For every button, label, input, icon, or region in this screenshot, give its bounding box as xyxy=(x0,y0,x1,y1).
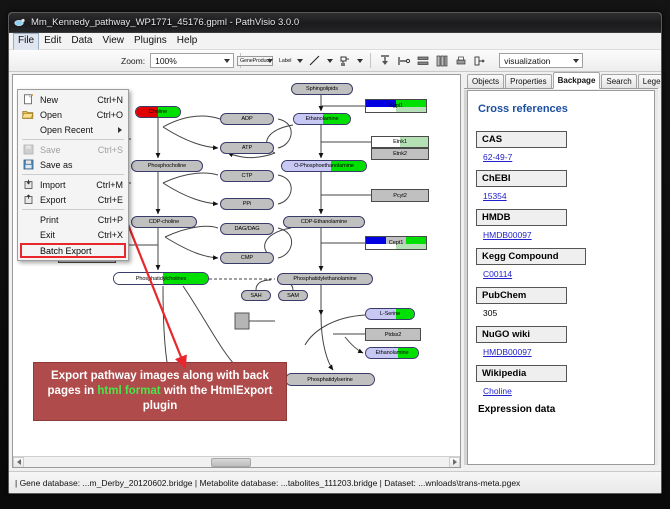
menu-separator xyxy=(22,209,124,210)
node-label: ATP xyxy=(242,145,252,151)
label-icon[interactable]: Label xyxy=(277,53,293,69)
xref-value-link[interactable]: HMDB00097 xyxy=(483,347,654,357)
menu-item-label: Export xyxy=(36,195,98,205)
callout-highlight: html format xyxy=(97,385,160,397)
align-top-icon[interactable] xyxy=(377,53,393,69)
node-choline-top[interactable]: Choline xyxy=(135,106,181,118)
menu-item-label: Open Recent xyxy=(36,125,118,135)
menu-separator xyxy=(22,174,124,175)
node-fill-topright xyxy=(406,237,426,244)
menu-item-label: Print xyxy=(36,215,98,225)
status-bar: | Gene database: ...m_Derby_20120602.bri… xyxy=(9,471,661,493)
node-label: Ethanolamine xyxy=(305,116,338,122)
node-l-serine[interactable]: L-Serine xyxy=(365,308,415,320)
layout-icon[interactable] xyxy=(472,53,488,69)
callout-text-after: with the HtmlExport plugin xyxy=(143,385,273,412)
node-sgpl1[interactable]: Sgpl1 xyxy=(365,99,427,113)
zoom-value: 100% xyxy=(155,56,177,66)
annotation-callout: Export pathway images along with back pa… xyxy=(33,362,287,421)
node-label: CDP-choline xyxy=(149,219,179,225)
node-label: Etnk1 xyxy=(393,139,407,145)
node-cdp-ethanolamine[interactable]: CDP-Ethanolamine xyxy=(283,216,365,228)
toolbar: Zoom: 100% GeneProduct Label xyxy=(9,50,661,72)
node-atp[interactable]: ATP xyxy=(220,142,274,154)
node-ethanolamine-bottom[interactable]: Ethanolamine xyxy=(365,347,419,359)
menu-item-new[interactable]: New Ctrl+N xyxy=(18,92,128,107)
canvas-horizontal-scrollbar[interactable] xyxy=(13,456,460,467)
menu-item-import[interactable]: Import Ctrl+M xyxy=(18,177,128,192)
node-dag[interactable]: DAG/DAG xyxy=(220,223,274,235)
distribute-icon[interactable] xyxy=(434,53,450,69)
xref-source-label: CAS xyxy=(476,131,567,148)
menu-item-batch-export[interactable]: Batch Export xyxy=(20,243,126,258)
toolbar-separator-2 xyxy=(370,53,371,68)
print-icon[interactable] xyxy=(453,53,469,69)
node-label: SAM xyxy=(287,293,299,299)
menu-data[interactable]: Data xyxy=(66,33,97,49)
gene-product-dropdown[interactable] xyxy=(266,53,274,69)
node-phosphatidylethanolamine[interactable]: Phosphatidylethanolamine xyxy=(277,273,373,285)
xref-source-label: Kegg Compound xyxy=(476,248,586,265)
xref-source-label: ChEBI xyxy=(476,170,567,187)
menu-item-accel: Ctrl+E xyxy=(98,195,128,205)
node-label: L-Serine xyxy=(380,311,400,317)
backpage-content: Cross references CAS 62-49-7 ChEBI 15354… xyxy=(467,90,655,465)
xref-wikipedia: Wikipedia Choline xyxy=(476,365,654,396)
node-label: CTP xyxy=(242,173,253,179)
side-panel-scrollbar[interactable] xyxy=(655,90,658,465)
xref-value-link[interactable]: 15354 xyxy=(483,191,654,201)
node-etnk2[interactable]: Etnk2 xyxy=(371,148,429,160)
open-folder-icon xyxy=(20,108,36,121)
zoom-label: Zoom: xyxy=(121,56,145,66)
node-label: O-Phosphoethanolamine xyxy=(294,163,354,169)
node-ptdss2[interactable]: Ptdss2 xyxy=(365,328,421,341)
node-cept1[interactable]: Cept1 xyxy=(365,236,427,250)
node-cdp-choline[interactable]: CDP-choline xyxy=(131,216,197,228)
xref-source-label: PubChem xyxy=(476,287,567,304)
node-label: Phosphatidylserine xyxy=(307,377,352,383)
stack-icon[interactable] xyxy=(415,53,431,69)
tab-properties[interactable]: Properties xyxy=(505,74,551,88)
chevron-down-icon xyxy=(573,59,579,63)
menu-file[interactable]: File xyxy=(13,33,39,50)
menu-view[interactable]: View xyxy=(97,33,129,49)
blank-icon xyxy=(20,213,36,226)
label-dropdown[interactable] xyxy=(296,53,304,69)
menu-item-save: Save Ctrl+S xyxy=(18,142,128,157)
menu-item-exit[interactable]: Exit Ctrl+X xyxy=(18,227,128,242)
node-label: Sphingolipids xyxy=(306,86,338,92)
node-label: Phosphatidylethanolamine xyxy=(293,276,356,282)
xref-pubchem: PubChem 305 xyxy=(476,287,654,318)
node-label: SAH xyxy=(250,293,261,299)
gene-product-icon[interactable]: GeneProduct xyxy=(247,53,263,69)
title-bar: Mm_Kennedy_pathway_WP1771_45176.gpml - P… xyxy=(9,13,661,33)
blank-icon xyxy=(20,228,36,241)
node-label: Ethanolamine xyxy=(375,350,408,356)
menu-plugins[interactable]: Plugins xyxy=(129,33,172,49)
tab-objects[interactable]: Objects xyxy=(467,74,504,88)
menu-item-accel: Ctrl+X xyxy=(98,230,128,240)
node-ethanolamine-top[interactable]: Ethanolamine xyxy=(293,113,351,125)
xref-value-text: 305 xyxy=(483,308,654,318)
xref-value-link[interactable]: HMDB00097 xyxy=(483,230,654,240)
zoom-combobox[interactable]: 100% xyxy=(150,53,234,68)
pathvisio-application-window: Mm_Kennedy_pathway_WP1771_45176.gpml - P… xyxy=(8,12,662,494)
node-label: ADP xyxy=(241,116,252,122)
menu-item-save-as[interactable]: Save as xyxy=(18,157,128,172)
import-icon xyxy=(20,178,36,191)
node-label: Sgpl1 xyxy=(389,103,403,109)
xref-kegg-compound: Kegg Compound C00114 xyxy=(476,248,654,279)
screenshot-root: Mm_Kennedy_pathway_WP1771_45176.gpml - P… xyxy=(0,0,670,509)
xref-nugo-wiki: NuGO wiki HMDB00097 xyxy=(476,326,654,357)
receptor-icon[interactable] xyxy=(337,53,353,69)
xref-value-link[interactable]: 62-49-7 xyxy=(483,152,654,162)
node-ctp[interactable]: CTP xyxy=(220,170,274,182)
node-adp[interactable]: ADP xyxy=(220,113,274,125)
side-panel-tabs[interactable]: Objects Properties Backpage Search Legen… xyxy=(464,74,658,89)
node-sah[interactable]: SAH xyxy=(241,290,271,301)
menu-item-open-recent[interactable]: Open Recent xyxy=(18,122,128,137)
node-phosphatidylcholines[interactable]: Phosphatidylcholines xyxy=(113,272,209,285)
menu-item-label: Save as xyxy=(36,160,123,170)
menu-item-label: Batch Export xyxy=(22,246,124,256)
align-left-icon[interactable] xyxy=(396,53,412,69)
menu-item-label: New xyxy=(36,95,97,105)
node-label: DAG/DAG xyxy=(234,226,259,232)
menu-item-label: Save xyxy=(36,145,98,155)
node-phosphocholine[interactable]: Phosphocholine xyxy=(131,160,203,172)
node-fill-topleft xyxy=(366,237,386,244)
file-menu-dropdown[interactable]: New Ctrl+N Open Ctrl+O Open Recent xyxy=(17,89,129,261)
node-label: Pcyt2 xyxy=(393,193,407,199)
node-etnk1[interactable]: Etnk1 xyxy=(371,136,429,148)
menu-item-accel: Ctrl+P xyxy=(98,215,128,225)
node-sam[interactable]: SAM xyxy=(278,290,308,301)
xref-source-label: Wikipedia xyxy=(476,365,567,382)
line-icon[interactable] xyxy=(307,53,323,69)
tab-legend[interactable]: Legend xyxy=(638,74,662,88)
line-dropdown[interactable] xyxy=(326,53,334,69)
tab-backpage[interactable]: Backpage xyxy=(553,72,601,89)
label-text: Label xyxy=(277,57,293,65)
scroll-left-icon[interactable] xyxy=(13,457,24,468)
menu-edit[interactable]: Edit xyxy=(39,33,66,49)
node-label: CMP xyxy=(241,255,253,261)
node-label: CDP-Ethanolamine xyxy=(301,219,347,225)
visualization-value: visualization xyxy=(504,56,550,66)
node-label: Ptdss2 xyxy=(385,332,402,338)
menu-item-open[interactable]: Open Ctrl+O xyxy=(18,107,128,122)
menu-item-print[interactable]: Print Ctrl+P xyxy=(18,212,128,227)
xref-value-link[interactable]: C00114 xyxy=(483,269,654,279)
save-as-icon xyxy=(20,158,36,171)
xref-cas: CAS 62-49-7 xyxy=(476,131,654,162)
node-phosphatidylserine[interactable]: Phosphatidylserine xyxy=(285,373,375,386)
menu-item-label: Exit xyxy=(36,230,98,240)
receptor-dropdown[interactable] xyxy=(356,53,364,69)
pathvisio-app-icon xyxy=(14,17,26,29)
tab-search[interactable]: Search xyxy=(601,74,636,88)
node-label: Phosphocholine xyxy=(148,163,186,169)
menu-bar[interactable]: File Edit Data View Plugins Help xyxy=(9,33,661,50)
menu-item-export[interactable]: Export Ctrl+E xyxy=(18,192,128,207)
xref-chebi: ChEBI 15354 xyxy=(476,170,654,201)
node-cmp[interactable]: CMP xyxy=(220,252,274,264)
expression-data-heading: Expression data xyxy=(478,404,654,415)
submenu-arrow-icon xyxy=(118,127,122,133)
node-label: Etnk2 xyxy=(393,151,407,157)
xref-source-label: NuGO wiki xyxy=(476,326,567,343)
node-ppi[interactable]: PPi xyxy=(220,198,274,210)
blank-icon xyxy=(20,123,36,136)
menu-item-label: Open xyxy=(36,110,97,120)
xref-hmdb: HMDB HMDB00097 xyxy=(476,209,654,240)
side-panel: Objects Properties Backpage Search Legen… xyxy=(464,74,658,468)
node-o-phosphoethanolamine[interactable]: O-Phosphoethanolamine xyxy=(281,160,367,172)
window-title: Mm_Kennedy_pathway_WP1771_45176.gpml - P… xyxy=(31,17,299,28)
menu-item-label: Import xyxy=(36,180,96,190)
menu-item-accel: Ctrl+M xyxy=(96,180,128,190)
export-icon xyxy=(20,193,36,206)
xref-source-label: HMDB xyxy=(476,209,567,226)
xref-value-link[interactable]: Choline xyxy=(483,386,654,396)
menu-item-accel: Ctrl+N xyxy=(97,95,128,105)
node-label: Cept1 xyxy=(389,240,403,246)
node-label: PPi xyxy=(243,201,251,207)
scroll-right-icon[interactable] xyxy=(449,457,460,468)
cross-references-heading: Cross references xyxy=(478,103,654,115)
menu-item-accel: Ctrl+O xyxy=(97,110,128,120)
visualization-combobox[interactable]: visualization xyxy=(499,53,583,68)
status-text: | Gene database: ...m_Derby_20120602.bri… xyxy=(15,478,520,488)
menu-item-accel: Ctrl+S xyxy=(98,145,128,155)
node-pcyt2[interactable]: Pcyt2 xyxy=(371,189,429,202)
scrollbar-thumb[interactable] xyxy=(211,458,251,467)
save-disk-icon xyxy=(20,143,36,156)
menu-help[interactable]: Help xyxy=(172,33,203,49)
node-label: Choline xyxy=(149,109,167,115)
node-label: Phosphatidylcholines xyxy=(136,276,187,282)
new-file-icon xyxy=(20,93,36,106)
node-sphingolipids[interactable]: Sphingolipids xyxy=(291,83,353,95)
menu-separator xyxy=(22,139,124,140)
chevron-down-icon xyxy=(224,59,230,63)
